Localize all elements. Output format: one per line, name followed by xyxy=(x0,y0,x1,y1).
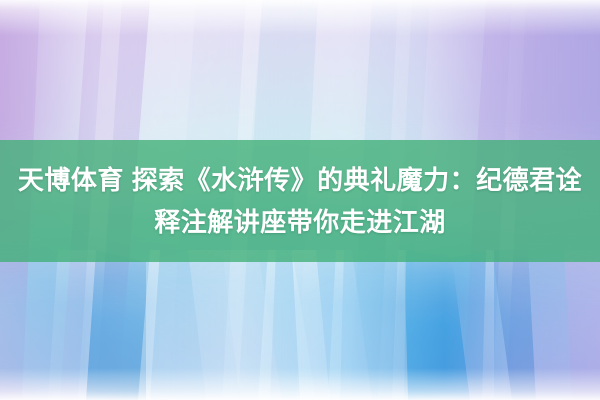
page-title: 天博体育 探索《水浒传》的典礼魔力：纪德君诠释注解讲座带你走进江湖 xyxy=(8,159,592,243)
title-band: 天博体育 探索《水浒传》的典礼魔力：纪德君诠释注解讲座带你走进江湖 xyxy=(0,140,600,262)
title-band-inner: 天博体育 探索《水浒传》的典礼魔力：纪德君诠释注解讲座带你走进江湖 xyxy=(0,159,600,243)
banner-image: 天博体育 探索《水浒传》的典礼魔力：纪德君诠释注解讲座带你走进江湖 xyxy=(0,0,600,400)
